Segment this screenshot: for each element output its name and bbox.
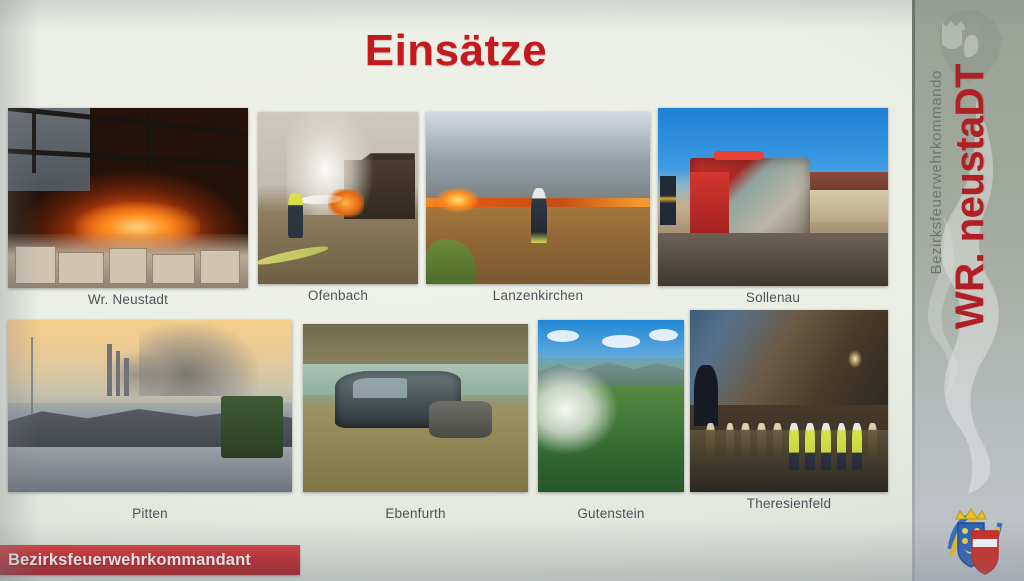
photo-image-theresienfeld[interactable] bbox=[690, 310, 888, 492]
photo-tile[interactable]: Ofenbach bbox=[258, 112, 418, 284]
photo-caption: Lanzenkirchen bbox=[406, 288, 670, 303]
photo-image-wr-neustadt[interactable] bbox=[8, 108, 248, 288]
presentation-slide: Einsätze Wr. Neustadt bbox=[0, 0, 1024, 581]
photo-caption: Pitten bbox=[0, 506, 312, 521]
photo-image-lanzenkirchen[interactable] bbox=[426, 112, 650, 284]
sidebar-subtitle: Bezirksfeuerwehrkommando bbox=[928, 70, 945, 274]
photo-image-sollenau[interactable] bbox=[658, 108, 888, 286]
photo-tile[interactable]: Theresienfeld bbox=[690, 310, 888, 492]
status-banner-label: Bezirksfeuerwehrkommandant bbox=[0, 551, 251, 570]
sidebar-divider bbox=[912, 0, 915, 581]
photo-caption: Sollenau bbox=[638, 290, 908, 305]
sidebar-title: WR. neustaDT bbox=[948, 64, 993, 329]
photo-caption: Ebenfurth bbox=[283, 506, 548, 521]
photo-tile[interactable]: Sollenau bbox=[658, 108, 888, 286]
photo-tile[interactable]: Ebenfurth bbox=[303, 324, 528, 492]
photo-tile[interactable]: Pitten bbox=[8, 320, 292, 492]
photo-image-pitten[interactable] bbox=[8, 320, 292, 492]
photo-tile[interactable]: Gutenstein bbox=[538, 320, 684, 492]
photo-image-gutenstein[interactable] bbox=[538, 320, 684, 492]
photo-image-ofenbach[interactable] bbox=[258, 112, 418, 284]
photo-image-ebenfurth[interactable] bbox=[303, 324, 528, 492]
page-title: Einsätze bbox=[0, 26, 912, 76]
crest-icon bbox=[944, 505, 1006, 575]
sidebar: Bezirksfeuerwehrkommando WR. neustaDT bbox=[912, 0, 1024, 581]
photo-caption: Wr. Neustadt bbox=[0, 292, 268, 307]
photo-caption: Theresienfeld bbox=[670, 496, 908, 511]
photo-tile[interactable]: Lanzenkirchen bbox=[426, 112, 650, 284]
photo-tile[interactable]: Wr. Neustadt bbox=[8, 108, 248, 288]
status-banner: Bezirksfeuerwehrkommandant bbox=[0, 545, 300, 575]
